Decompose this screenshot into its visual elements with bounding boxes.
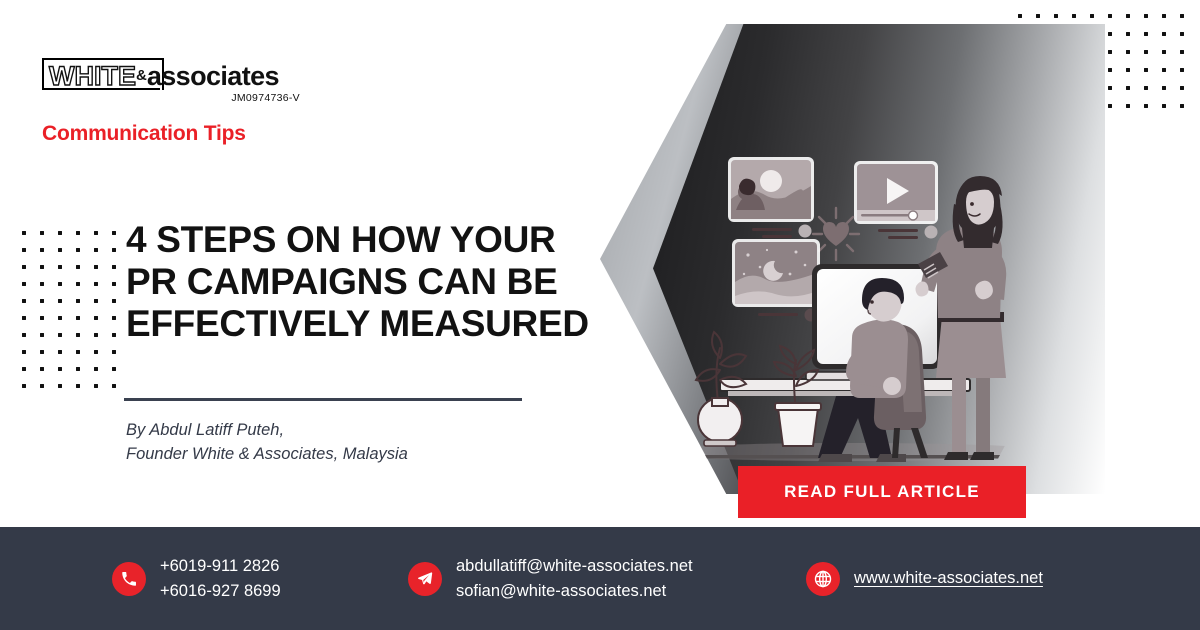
dot-grid-left-decoration — [22, 231, 130, 401]
decor-dot — [94, 265, 98, 269]
phone-line-2: +6016-927 8699 — [160, 579, 281, 604]
decor-dot — [58, 367, 62, 371]
email-line-2: sofian@white-associates.net — [456, 579, 693, 604]
decor-dot — [94, 333, 98, 337]
decor-dot — [22, 231, 26, 235]
decor-dot — [1126, 104, 1130, 108]
decor-dot — [1162, 50, 1166, 54]
decor-dot — [1162, 14, 1166, 18]
decor-dot — [94, 299, 98, 303]
decor-dot — [94, 384, 98, 388]
decor-dot — [1180, 32, 1184, 36]
brand-logo: WHITE & associates JM0974736-V — [42, 58, 302, 116]
decor-dot — [112, 282, 116, 286]
decor-dot — [58, 282, 62, 286]
decor-dot — [58, 265, 62, 269]
decor-dot — [58, 316, 62, 320]
decor-dot — [40, 248, 44, 252]
desk — [720, 379, 970, 396]
decor-dot — [40, 231, 44, 235]
decor-dot — [112, 231, 116, 235]
decor-dot — [1180, 14, 1184, 18]
decor-dot — [1162, 68, 1166, 72]
decor-dot — [22, 299, 26, 303]
decor-dot — [22, 248, 26, 252]
decor-dot — [58, 248, 62, 252]
decor-dot — [40, 282, 44, 286]
phone-line-1: +6019-911 2826 — [160, 554, 281, 579]
decor-dot — [112, 316, 116, 320]
decor-dot — [1090, 14, 1094, 18]
decor-dot — [76, 299, 80, 303]
decor-dot — [76, 282, 80, 286]
decor-dot — [76, 316, 80, 320]
decor-dot — [1144, 14, 1148, 18]
decor-dot — [1144, 86, 1148, 90]
decor-dot — [40, 299, 44, 303]
decor-dot — [112, 384, 116, 388]
decor-dot — [1126, 32, 1130, 36]
phone-icon — [112, 562, 146, 596]
decor-dot — [112, 367, 116, 371]
decor-dot — [112, 333, 116, 337]
decor-dot — [1162, 104, 1166, 108]
decor-dot — [1180, 86, 1184, 90]
decor-dot — [1108, 86, 1112, 90]
contact-email[interactable]: abdullatiff@white-associates.net sofian@… — [408, 554, 693, 604]
contact-phone[interactable]: +6019-911 2826 +6016-927 8699 — [112, 554, 281, 604]
logo-ampersand: & — [136, 60, 147, 92]
byline-role: Founder White & Associates, Malaysia — [126, 442, 586, 466]
decor-dot — [22, 265, 26, 269]
decor-dot — [1108, 32, 1112, 36]
decor-dot — [112, 299, 116, 303]
decor-dot — [112, 350, 116, 354]
logo-text-associates: associates — [147, 60, 279, 92]
decor-dot — [1126, 14, 1130, 18]
decor-dot — [1018, 14, 1022, 18]
decor-dot — [94, 282, 98, 286]
decor-dot — [76, 231, 80, 235]
logo-text-white: WHITE — [42, 60, 136, 92]
contact-footer-bar: +6019-911 2826 +6016-927 8699 abdullatif… — [0, 527, 1200, 630]
globe-icon — [806, 562, 840, 596]
decor-dot — [22, 350, 26, 354]
decor-dot — [94, 367, 98, 371]
decor-dot — [1144, 68, 1148, 72]
decor-dot — [58, 299, 62, 303]
decor-dot — [1126, 68, 1130, 72]
contact-website[interactable]: www.white-associates.net — [806, 562, 1043, 596]
decor-dot — [76, 384, 80, 388]
decor-dot — [1162, 86, 1166, 90]
decor-dot — [94, 350, 98, 354]
decor-dot — [1180, 50, 1184, 54]
decor-dot — [1144, 32, 1148, 36]
decor-dot — [1108, 14, 1112, 18]
decor-dot — [76, 265, 80, 269]
decor-dot — [22, 282, 26, 286]
email-line-1: abdullatiff@white-associates.net — [456, 554, 693, 579]
decor-dot — [40, 367, 44, 371]
decor-dot — [112, 265, 116, 269]
byline: By Abdul Latiff Puteh, Founder White & A… — [126, 418, 586, 466]
byline-divider — [124, 398, 522, 401]
photo-card-sun — [728, 157, 814, 238]
logo-registration-number: JM0974736-V — [231, 92, 300, 104]
decor-dot — [1108, 68, 1112, 72]
decor-dot — [76, 248, 80, 252]
website-text: www.white-associates.net — [854, 566, 1043, 591]
photo-card-night-moon — [732, 239, 820, 322]
decor-dot — [22, 333, 26, 337]
decor-dot — [58, 333, 62, 337]
workspace-scene — [600, 24, 1105, 494]
decor-dot — [1144, 104, 1148, 108]
decor-dot — [94, 316, 98, 320]
paper-plane-icon — [408, 562, 442, 596]
decor-dot — [1126, 86, 1130, 90]
decor-dot — [94, 248, 98, 252]
decor-dot — [76, 333, 80, 337]
decor-dot — [94, 231, 98, 235]
logo-wordmark-row: WHITE & associates — [42, 58, 302, 92]
decor-dot — [1072, 14, 1076, 18]
decor-dot — [40, 265, 44, 269]
decor-dot — [1180, 104, 1184, 108]
decor-dot — [22, 384, 26, 388]
decor-dot — [22, 367, 26, 371]
decor-dot — [40, 316, 44, 320]
decor-dot — [58, 350, 62, 354]
decor-dot — [1036, 14, 1040, 18]
page-title: 4 Steps On How Your PR Campaigns Can Be … — [126, 219, 606, 345]
decor-dot — [1054, 14, 1058, 18]
decor-dot — [1108, 50, 1112, 54]
decor-dot — [76, 350, 80, 354]
byline-author: By Abdul Latiff Puteh, — [126, 418, 586, 442]
decor-dot — [22, 316, 26, 320]
decor-dot — [1144, 50, 1148, 54]
decor-dot — [112, 248, 116, 252]
decor-dot — [40, 384, 44, 388]
read-full-article-button[interactable]: READ FULL ARTICLE — [738, 466, 1026, 518]
decor-dot — [1180, 68, 1184, 72]
decor-dot — [1108, 104, 1112, 108]
decor-dot — [1126, 50, 1130, 54]
video-card-play-button — [854, 161, 938, 239]
category-eyebrow-label: Communication Tips — [42, 122, 246, 146]
decor-dot — [1162, 32, 1166, 36]
heart-icon — [823, 222, 849, 246]
phone-numbers: +6019-911 2826 +6016-927 8699 — [160, 554, 281, 604]
decor-dot — [76, 367, 80, 371]
decor-dot — [58, 384, 62, 388]
poster-canvas: WHITE & associates JM0974736-V Communica… — [0, 0, 1200, 630]
website-url-link[interactable]: www.white-associates.net — [854, 566, 1043, 591]
decor-dot — [40, 350, 44, 354]
decor-dot — [40, 333, 44, 337]
illustration-hexagon — [600, 24, 1105, 494]
decor-dot — [58, 231, 62, 235]
email-addresses: abdullatiff@white-associates.net sofian@… — [456, 554, 693, 604]
